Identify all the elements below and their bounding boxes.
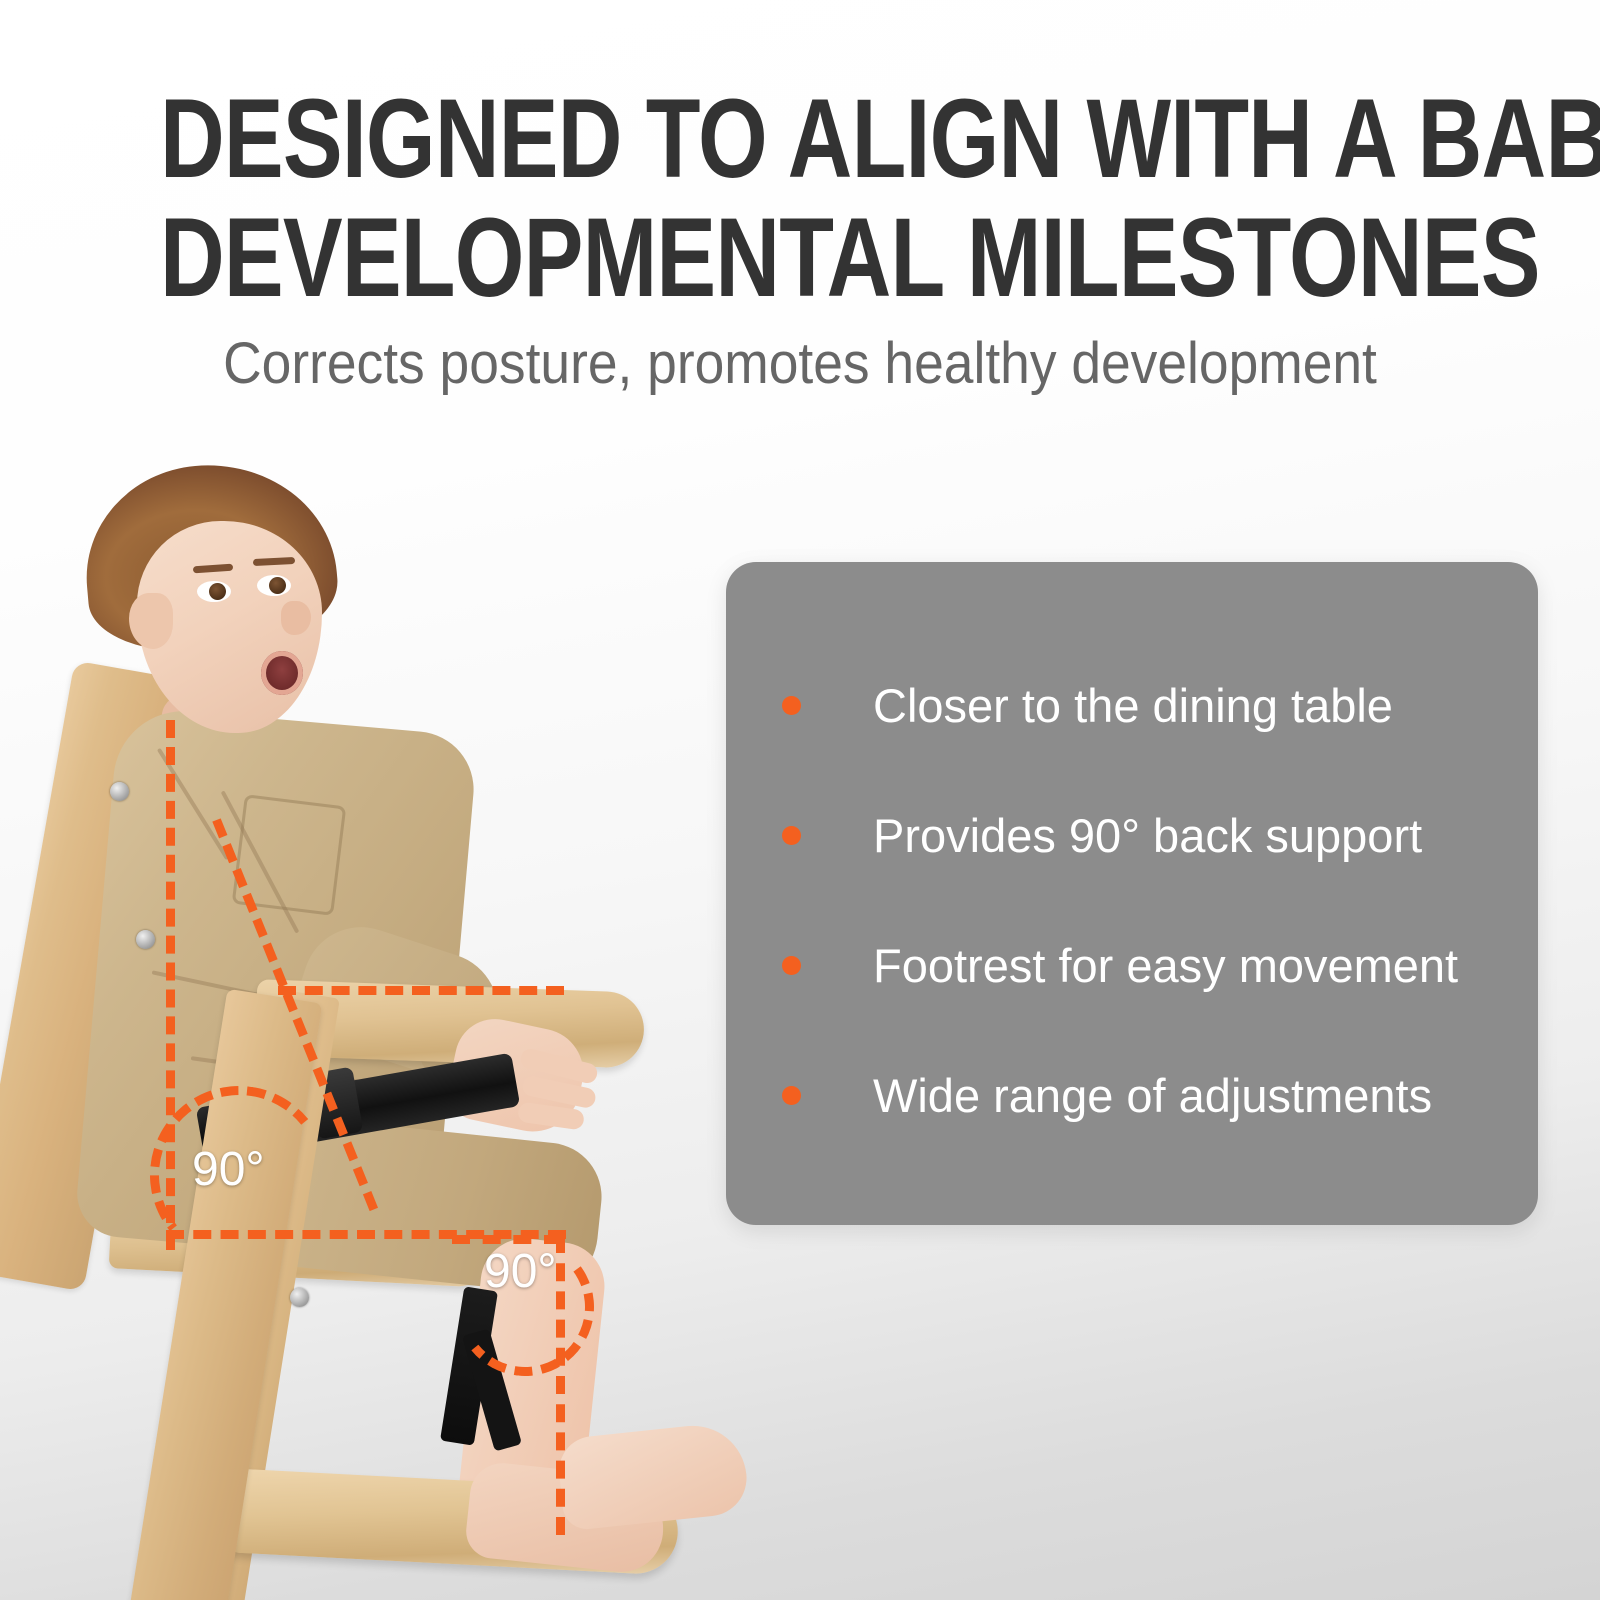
list-item: Closer to the dining table	[726, 640, 1538, 770]
headline-line-1: DESIGNED TO ALIGN WITH A BABY'S	[160, 80, 1440, 199]
chair-screw	[290, 1288, 309, 1307]
page-subtitle: Corrects posture, promotes healthy devel…	[64, 330, 1536, 397]
bullet-dot-icon	[782, 956, 801, 975]
headline-line-2: DEVELOPMENTAL MILESTONES	[160, 199, 1440, 318]
list-item: Wide range of adjustments	[726, 1030, 1538, 1160]
feature-label: Wide range of adjustments	[873, 1068, 1432, 1123]
feature-label: Closer to the dining table	[873, 678, 1393, 733]
knee-angle-label: 90°	[484, 1244, 557, 1299]
page-title: DESIGNED TO ALIGN WITH A BABY'S DEVELOPM…	[160, 80, 1440, 317]
child-eye-right	[257, 575, 291, 596]
feature-list: Closer to the dining table Provides 90° …	[726, 640, 1538, 1160]
chair-screw	[110, 782, 129, 801]
product-photo	[0, 430, 820, 1600]
feature-label: Provides 90° back support	[873, 808, 1422, 863]
shoulder-horizontal-guide	[278, 986, 564, 995]
child-head	[85, 465, 335, 740]
bullet-dot-icon	[782, 696, 801, 715]
feature-label: Footrest for easy movement	[873, 938, 1458, 993]
child-foot-front	[556, 1421, 751, 1532]
bullet-dot-icon	[782, 826, 801, 845]
child-mouth	[261, 651, 303, 695]
hip-angle-label: 90°	[192, 1142, 265, 1197]
child-ear	[129, 593, 173, 649]
child-eye-left	[197, 581, 231, 602]
list-item: Footrest for easy movement	[726, 900, 1538, 1030]
iris	[209, 583, 226, 600]
bullet-dot-icon	[782, 1086, 801, 1105]
list-item: Provides 90° back support	[726, 770, 1538, 900]
iris	[269, 577, 286, 594]
infographic-canvas: DESIGNED TO ALIGN WITH A BABY'S DEVELOPM…	[0, 0, 1600, 1600]
feature-panel: Closer to the dining table Provides 90° …	[726, 562, 1538, 1225]
chair-screw	[136, 930, 155, 949]
